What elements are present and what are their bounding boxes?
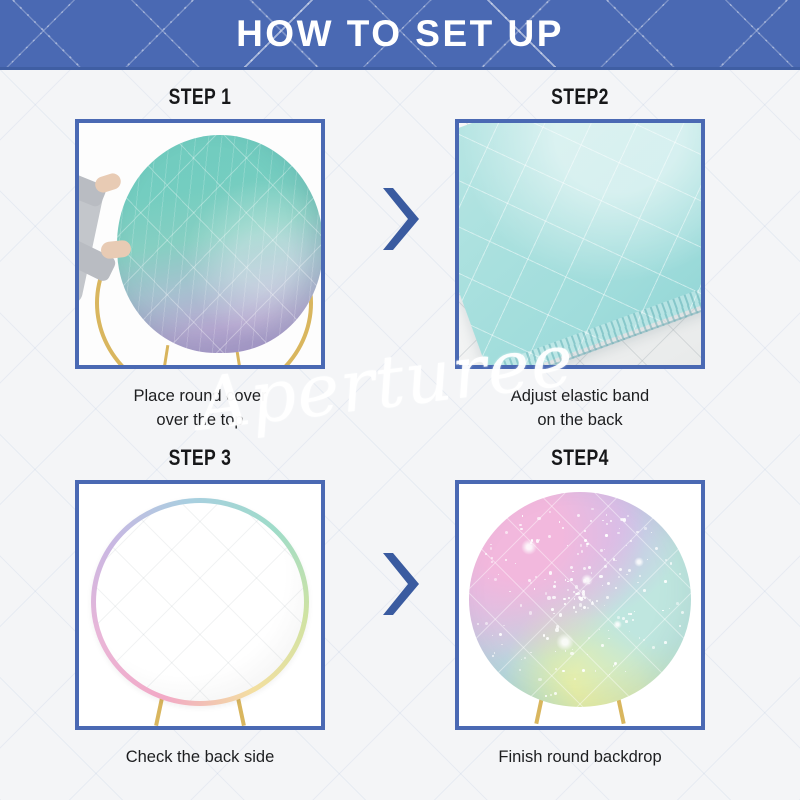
step-photo-3 <box>79 484 321 726</box>
step-card-4: STEP4 Finish round backdrop <box>415 445 745 769</box>
step-photo-1 <box>79 123 321 365</box>
step-caption-2-line2: on the back <box>415 408 745 432</box>
step-label-4: STEP4 <box>448 445 712 471</box>
step-card-1: STEP 1 <box>35 84 365 432</box>
steps-grid: STEP 1 <box>0 70 800 800</box>
page-title: HOW TO SET UP <box>236 13 564 55</box>
step-image-frame-2 <box>455 119 705 369</box>
step-photo-2 <box>459 123 701 365</box>
step-caption-2: Adjust elastic band on the back <box>415 384 745 432</box>
step-image-frame-4 <box>455 480 705 730</box>
banner-underline <box>0 67 800 70</box>
step-caption-1-line1: Place round cover <box>35 384 365 408</box>
backdrop-white-face <box>96 503 304 701</box>
sparkle-stars <box>469 492 691 707</box>
step-label-3: STEP 3 <box>68 445 332 471</box>
backdrop-back-side <box>91 498 309 706</box>
header-banner: HOW TO SET UP <box>0 0 800 67</box>
finished-round-backdrop <box>469 492 691 707</box>
step-caption-1-line2: over the top <box>35 408 365 432</box>
backdrop-face-quilt-lines <box>96 503 304 701</box>
step-label-1: STEP 1 <box>68 84 332 110</box>
chevron-right-icon <box>377 551 423 617</box>
round-cover-fabric <box>117 135 321 353</box>
step-photo-4 <box>459 484 701 726</box>
step-caption-2-line1: Adjust elastic band <box>415 384 745 408</box>
step-caption-3-line1: Check the back side <box>35 745 365 769</box>
step-caption-3: Check the back side <box>35 745 365 769</box>
step-image-frame-1 <box>75 119 325 369</box>
step-caption-4: Finish round backdrop <box>415 745 745 769</box>
fabric-quilt-lines <box>117 135 321 353</box>
chevron-right-icon <box>377 186 423 252</box>
infographic-page: HOW TO SET UP STEP 1 <box>0 0 800 800</box>
step-card-3: STEP 3 Check the back side <box>35 445 365 769</box>
step-label-2: STEP2 <box>448 84 712 110</box>
step-caption-4-line1: Finish round backdrop <box>415 745 745 769</box>
step-image-frame-3 <box>75 480 325 730</box>
step-card-2: STEP2 Adjust elastic band on the back <box>415 84 745 432</box>
step-caption-1: Place round cover over the top <box>35 384 365 432</box>
